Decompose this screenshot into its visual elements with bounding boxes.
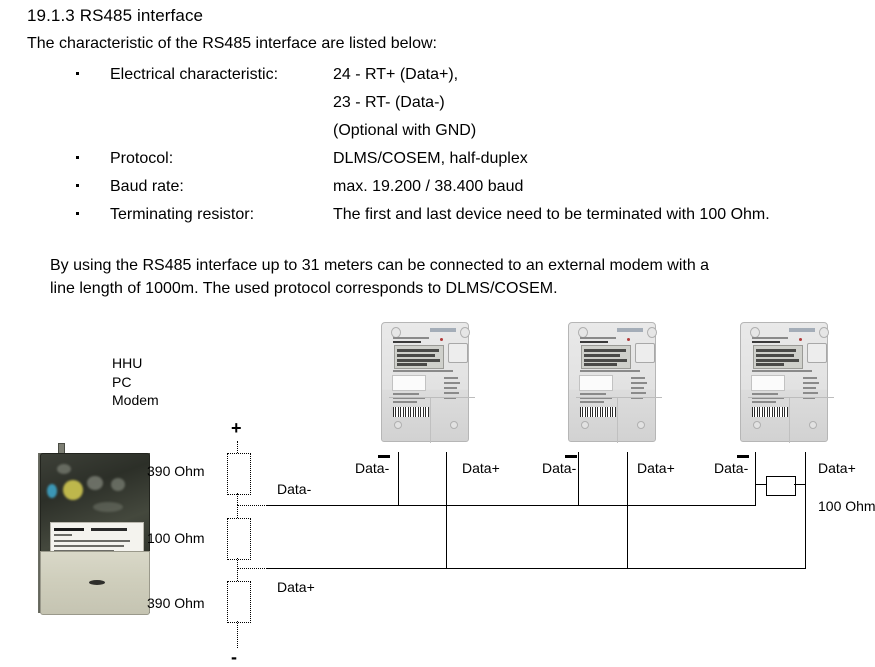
meter-cover-seam [748,397,834,398]
intro-paragraph: The characteristic of the RS485 interfac… [27,35,437,53]
meter-led [627,338,630,341]
meter-text-line [803,387,816,389]
meter-lid-seam [617,398,618,443]
meter-text-line [580,337,616,339]
meter-text-line [752,337,788,339]
meter-text-line [803,377,817,379]
meter-3-label-data-minus: Data- [714,461,748,476]
mounting-ear-right [647,327,657,338]
bias-wire-seg-1 [237,493,238,505]
meter-2-drop-data-minus [578,452,579,506]
list-item-term: Electrical characteristic: [110,66,278,84]
meter-text-line [631,377,645,379]
termination-resistor-label: 100 Ohm [818,499,875,514]
meter-2-drop-data-plus [627,452,628,569]
mounting-ear-right [460,327,470,338]
meter-barcode [751,406,789,418]
termination-lead-right [794,484,806,485]
meter-text-line [580,401,604,403]
mounting-ear-left [578,327,588,338]
modem-highlight-2 [111,478,125,491]
nameplate-code [91,528,127,531]
description-line-1: By using the RS485 interface up to 31 me… [50,257,709,275]
meter-text-line [580,397,612,399]
meter-1-label-data-minus: Data- [355,461,389,476]
meter-rating-window [751,375,785,391]
meter-2-label-data-minus: Data- [542,461,576,476]
meter-1-label-data-plus: Data+ [462,461,500,476]
modem-side-right [145,453,150,613]
meter-rating-window [392,375,426,391]
meter-3-label-data-plus: Data+ [818,461,856,476]
meter-2-label-data-plus: Data+ [637,461,675,476]
screw-icon [753,421,761,429]
meter-lid-seam [789,398,790,443]
meter-2-terminal-marker [565,455,577,458]
meter-barcode [579,406,617,418]
bias-wire-seg-3 [237,558,238,569]
host-label-pc: PC [112,375,131,390]
termination-resistor [766,476,796,496]
bullet-dot-icon [76,72,79,75]
bias-tap-data-minus [237,505,267,506]
list-item-term: Protocol: [110,150,173,168]
meter-device-3 [734,320,832,442]
list-item: Electrical characteristic: 24 - RT+ (Dat… [0,66,875,94]
polarity-plus-label: + [231,421,242,436]
bus-line-data-plus [266,568,805,569]
meter-text-line [393,341,421,343]
meter-lcd-display [753,345,803,369]
list-item: Protocol: DLMS/COSEM, half-duplex [0,150,875,178]
meter-3-terminal-marker [737,455,749,458]
meter-rating-window [579,375,613,391]
meter-text-line [580,341,608,343]
meter-device-2 [562,320,660,442]
bias-wire-seg-4 [237,568,238,581]
meter-text-line [631,392,646,394]
meter-text-line [631,382,647,384]
meter-led [799,338,802,341]
screw-icon [809,421,817,429]
meter-text-line [752,341,780,343]
meter-text-line [752,401,776,403]
meter-housing [568,322,656,442]
meter-button [635,343,655,363]
meter-text-line [393,393,419,395]
meter-led [440,338,443,341]
meter-text-line [631,387,644,389]
meter-barcode [392,406,430,418]
meter-3-drop-data-minus [755,452,756,506]
meter-text-line [803,382,819,384]
meter-1-drop-data-minus [398,452,399,506]
screw-icon [637,421,645,429]
bus-label-data-minus: Data- [277,482,311,497]
termination-lead-left [755,484,767,485]
meter-button [448,343,468,363]
meter-3-drop-data-plus [805,452,806,569]
bullet-dot-icon [76,212,79,215]
modem-highlight-3 [57,464,71,474]
meter-button [807,343,827,363]
meter-device-1 [375,320,473,442]
meter-housing [740,322,828,442]
modem-led-blue [47,484,57,498]
list-item-value: 24 - RT+ (Data+), [333,66,458,84]
bus-label-data-plus: Data+ [277,580,315,595]
meter-lcd-display [581,345,631,369]
meter-1-drop-data-plus [446,452,447,569]
description-line-2: line length of 1000m. The used protocol … [50,280,558,298]
meter-text-line [444,377,458,379]
meter-text-line [393,401,417,403]
meter-cover-seam [576,397,662,398]
bias-resistor-3-label: 390 Ohm [147,596,205,611]
meter-cover-seam [389,397,475,398]
meter-brand-mark [789,328,815,332]
bias-wire-top [237,441,238,453]
screw-icon [450,421,458,429]
meter-text-line [631,397,643,399]
modem-highlight-1 [87,476,103,490]
bullet-dot-icon [76,156,79,159]
modem-led-yellow [63,480,83,500]
screw-icon [581,421,589,429]
modem-nameplate [50,522,144,553]
bias-tap-data-plus [237,568,267,569]
meter-text-line [580,393,606,395]
meter-housing [381,322,469,442]
meter-text-line [752,397,784,399]
bullet-dot-icon [76,184,79,187]
nameplate-line [54,545,124,547]
characteristics-list: Electrical characteristic: 24 - RT+ (Dat… [0,66,875,234]
antenna-icon [58,443,65,459]
modem-side-left [38,453,43,613]
bias-resistor-3 [227,581,251,623]
mounting-ear-right [819,327,829,338]
list-item-term: Baud rate: [110,178,184,196]
meter-text-line [444,382,460,384]
bus-line-data-minus [266,505,755,506]
meter-text-line [444,387,457,389]
modem-device-image [38,443,150,615]
meter-text-line [580,370,640,372]
bias-resistor-1-label: 390 Ohm [147,464,205,479]
meter-text-line [393,397,425,399]
list-item-value: 23 - RT- (Data-) [333,94,445,112]
polarity-minus-label: - [231,650,237,665]
meter-lcd-display [394,345,444,369]
meter-brand-mark [617,328,643,332]
list-item: (Optional with GND) [0,122,875,150]
meter-brand-mark [430,328,456,332]
list-item: Terminating resistor: The first and last… [0,206,875,234]
meter-text-line [752,370,812,372]
meter-1-terminal-marker [378,455,390,458]
page-title: 19.1.3 RS485 interface [27,6,203,26]
nameplate-logo [54,528,84,531]
mounting-ear-left [391,327,401,338]
bias-wire-seg-2 [237,505,238,518]
list-item-value: max. 19.200 / 38.400 baud [333,178,523,196]
bias-wire-bottom [237,621,238,648]
nameplate-line [54,540,130,542]
meter-text-line [803,392,818,394]
modem-top-shell [40,453,150,553]
list-item-value: (Optional with GND) [333,122,476,140]
bias-resistor-2-label: 100 Ohm [147,531,205,546]
list-item: 23 - RT- (Data-) [0,94,875,122]
host-label-modem: Modem [112,393,159,408]
meter-text-line [803,397,815,399]
bias-resistor-2 [227,518,251,560]
list-item: Baud rate: max. 19.200 / 38.400 baud [0,178,875,206]
modem-bottom-shell [40,551,150,615]
meter-text-line [393,370,453,372]
modem-highlight-4 [93,502,123,512]
meter-text-line [393,337,429,339]
meter-text-line [444,392,459,394]
nameplate-line [54,534,72,536]
host-label-hhu: HHU [112,356,142,371]
mounting-ear-left [750,327,760,338]
list-item-term: Terminating resistor: [110,206,254,224]
list-item-value: The first and last device need to be ter… [333,206,770,224]
screw-icon [89,580,105,585]
meter-lid-seam [430,398,431,443]
bias-resistor-1 [227,453,251,495]
list-item-value: DLMS/COSEM, half-duplex [333,150,528,168]
screw-icon [394,421,402,429]
meter-text-line [444,397,456,399]
nameplate-line [54,550,114,552]
meter-text-line [752,393,778,395]
